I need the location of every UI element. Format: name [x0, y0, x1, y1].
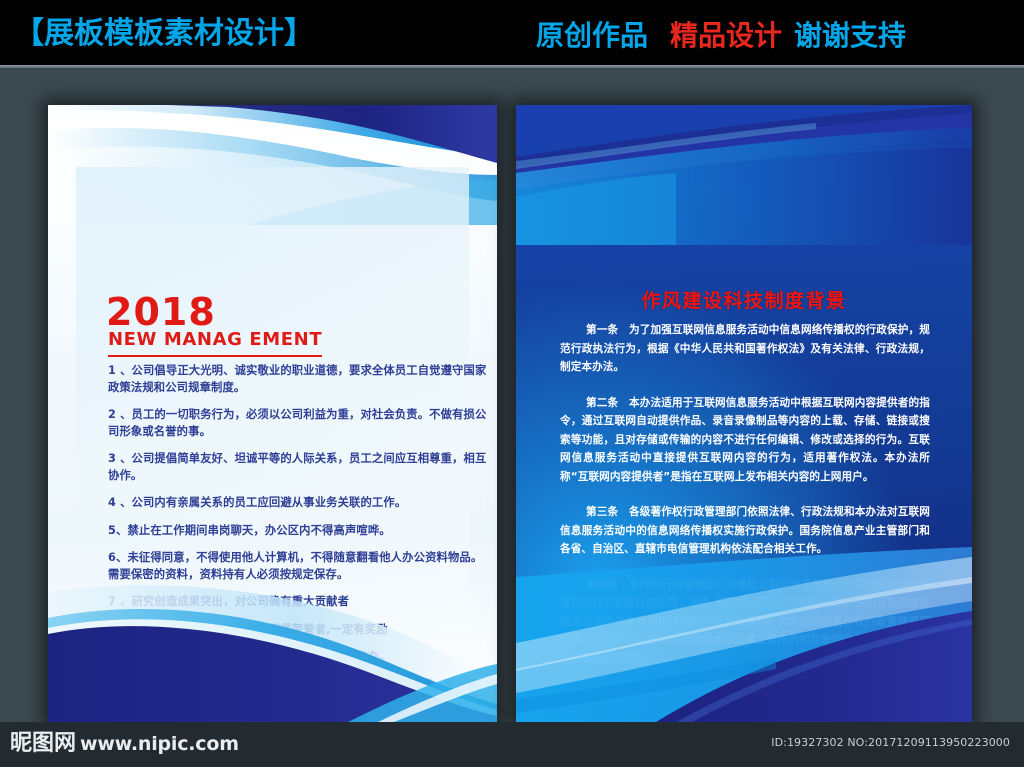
nipic-logo: 昵图网www.nipic.com [10, 731, 239, 757]
list-item: 2 、员工的一切职务行为，必须以公司利益为重，对社会负责。不做有损公司形象或名誉… [108, 407, 490, 440]
nipic-logo-cn: 昵图网 [10, 731, 76, 756]
nipic-logo-url: www.nipic.com [80, 733, 239, 755]
banner-bottom-highlight [0, 65, 1024, 68]
left-poster-panel: 2018 NEW MANAG EMENT 1 、公司倡导正大光明、诚实敬业的职业… [48, 105, 497, 722]
paragraph: 第二条 本办法适用于互联网信息服务活动中根据互联网内容提供者的指令，通过互联网自… [560, 394, 930, 487]
left-bottom-wave-art [48, 572, 497, 722]
banner-slogan: 原创作品精品设计谢谢支持 [536, 20, 906, 52]
paragraph: 第一条 为了加强互联网信息服务活动中信息网络传播权的行政保护，规范行政执法行为，… [560, 321, 930, 377]
right-bottom-wave-art [516, 547, 972, 722]
list-item: 5、禁止在工作期间串岗聊天，办公区内不得高声喧哗。 [108, 523, 490, 540]
banner-brand-tag: 【展板模板素材设计】 [14, 17, 314, 51]
slogan-premium-design: 精品设计 [670, 19, 782, 52]
poster-preview-stage: 【展板模板素材设计】 原创作品精品设计谢谢支持 [0, 0, 1024, 767]
left-subtitle: NEW MANAG EMENT [108, 329, 322, 357]
left-year-heading: 2018 [106, 291, 216, 333]
list-item: 3 、公司提倡简单友好、坦诚平等的人际关系，员工之间应互相尊重，相互协作。 [108, 451, 490, 484]
right-panel-title: 作风建设科技制度背景 [516, 289, 972, 313]
slogan-thanks-support: 谢谢支持 [794, 19, 906, 52]
list-item: 1 、公司倡导正大光明、诚实敬业的职业道德，要求全体员工自觉遵守国家政策法规和公… [108, 363, 490, 396]
top-banner: 【展板模板素材设计】 原创作品精品设计谢谢支持 [0, 0, 1024, 68]
asset-id-code: ID:19327302 NO:20171209113950223000 [771, 736, 1010, 750]
right-poster-panel: 作风建设科技制度背景 第一条 为了加强互联网信息服务活动中信息网络传播权的行政保… [516, 105, 972, 722]
list-item: 4 、公司内有亲属关系的员工应回避从事业务关联的工作。 [108, 495, 490, 512]
slogan-original-works: 原创作品 [536, 19, 648, 52]
right-top-wave-art [516, 105, 972, 245]
footer-bar: 昵图网www.nipic.com ID:19327302 NO:20171209… [0, 722, 1024, 767]
